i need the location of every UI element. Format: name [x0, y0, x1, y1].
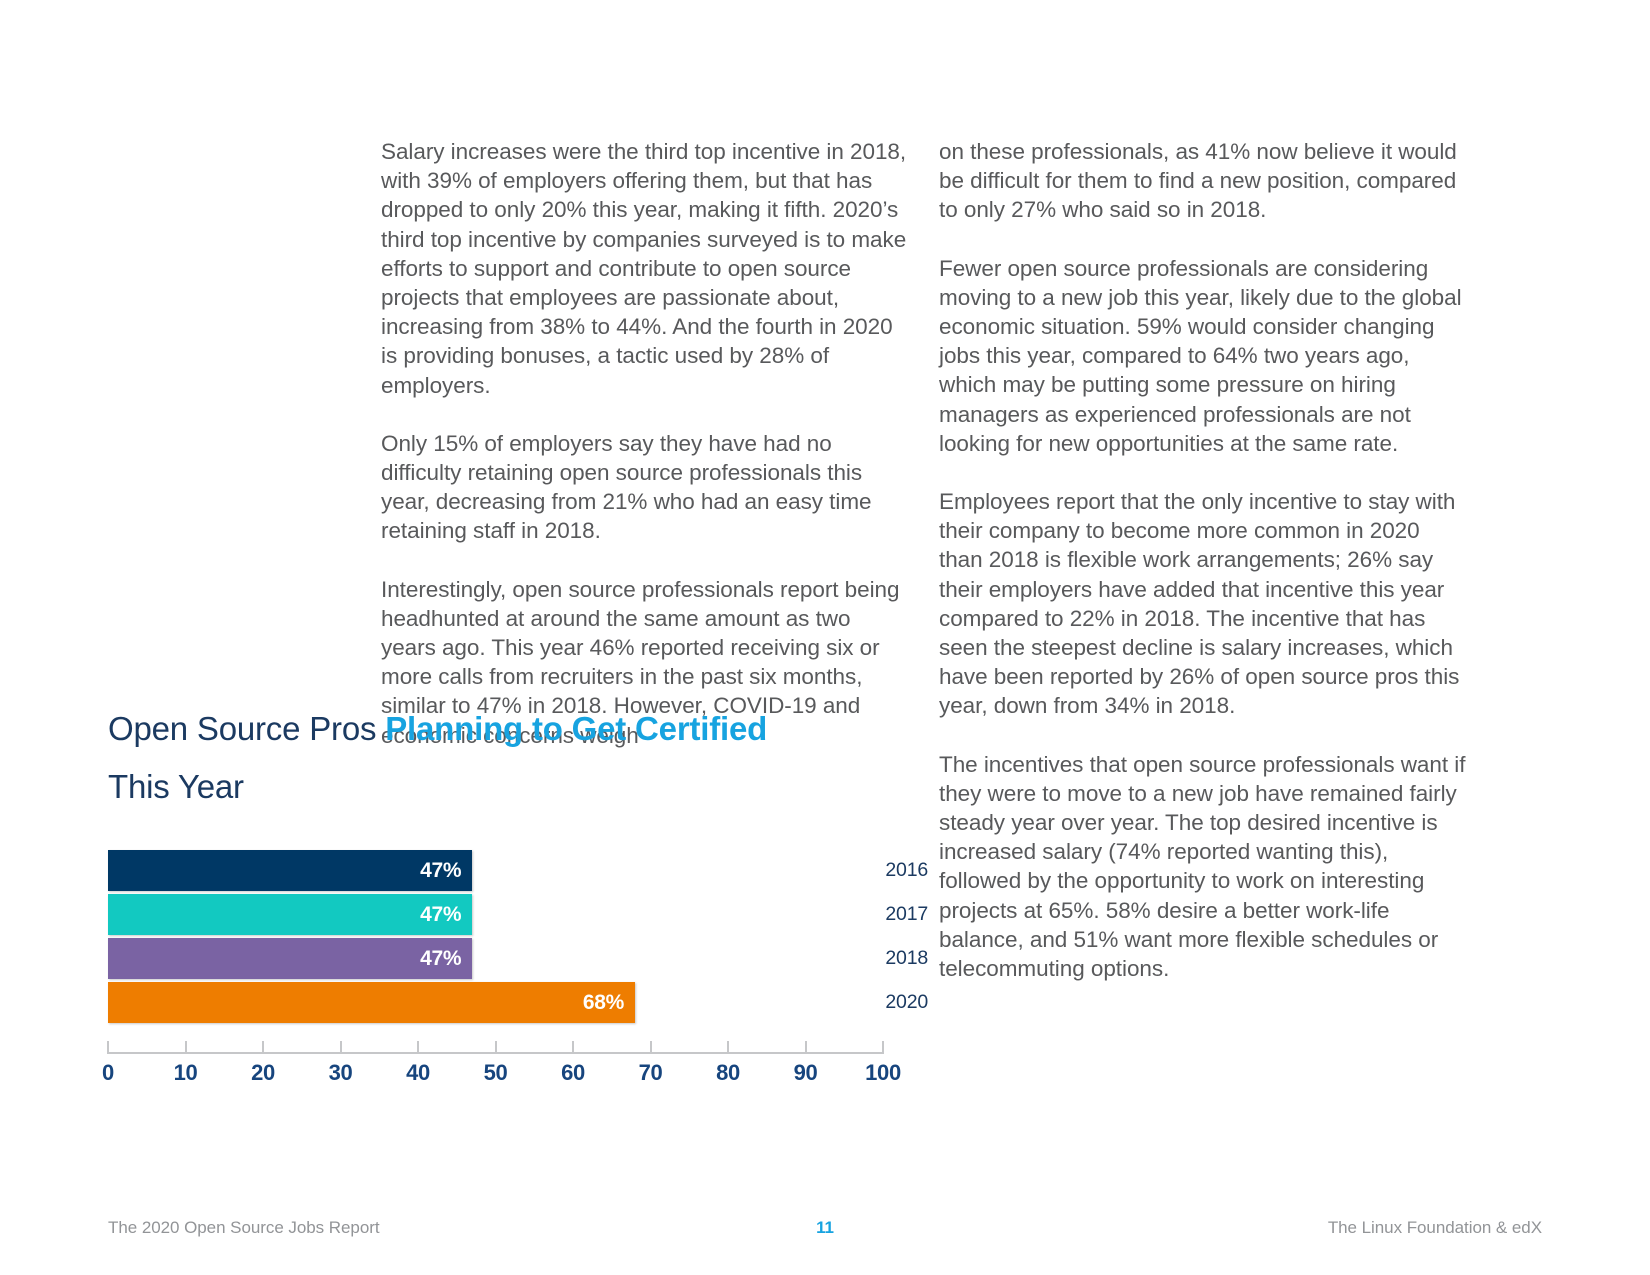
document-page: Salary increases were the third top ince…	[0, 0, 1650, 1275]
chart-plot-area: 47%201647%201747%201868%2020 01020304050…	[108, 850, 928, 1094]
axis-tick	[572, 1041, 574, 1054]
bar-row: 47%2018	[108, 938, 928, 979]
chart-title-line2: This Year	[108, 758, 928, 816]
x-axis	[108, 1039, 883, 1054]
bar-row: 47%2016	[108, 850, 928, 891]
axis-tick-label: 10	[174, 1060, 198, 1086]
axis-tick	[805, 1041, 807, 1054]
chart-title-line1: Open Source Pros Planning to Get Certifi…	[108, 700, 928, 758]
axis-tick	[727, 1041, 729, 1054]
bar-value-label: 47%	[420, 903, 472, 927]
axis-tick-label: 90	[794, 1060, 818, 1086]
chart-title-plain: Open Source Pros	[108, 710, 385, 747]
axis-tick	[495, 1041, 497, 1054]
bar-2018: 47%	[108, 938, 472, 979]
bar-2020: 68%	[108, 982, 635, 1023]
bar-chart: Open Source Pros Planning to Get Certifi…	[108, 700, 928, 1094]
bar-2017: 47%	[108, 894, 472, 935]
axis-tick-label: 60	[561, 1060, 585, 1086]
axis-tick-label: 70	[639, 1060, 663, 1086]
footer-report-name: The 2020 Open Source Jobs Report	[108, 1218, 380, 1238]
paragraph: Employees report that the only incentive…	[939, 487, 1467, 721]
bar-row: 47%2017	[108, 894, 928, 935]
page-footer: The 2020 Open Source Jobs Report 11 The …	[108, 1218, 1542, 1248]
axis-tick-label-group: 0102030405060708090100	[108, 1060, 883, 1094]
bar-category-label: 2018	[858, 947, 928, 970]
axis-tick	[262, 1041, 264, 1054]
axis-tick	[417, 1041, 419, 1054]
footer-publisher: The Linux Foundation & edX	[1328, 1218, 1542, 1238]
paragraph: The incentives that open source professi…	[939, 750, 1467, 984]
paragraph: Salary increases were the third top ince…	[381, 137, 909, 400]
bar-value-label: 47%	[420, 859, 472, 883]
axis-tick-label: 30	[329, 1060, 353, 1086]
chart-title-highlight: Planning to Get Certified	[385, 710, 767, 747]
bar-2016: 47%	[108, 850, 472, 891]
axis-tick-label: 50	[484, 1060, 508, 1086]
bar-category-label: 2020	[858, 991, 928, 1014]
footer-page-number: 11	[816, 1218, 834, 1238]
axis-tick	[185, 1041, 187, 1054]
bar-category-label: 2016	[858, 859, 928, 882]
axis-tick	[340, 1041, 342, 1054]
axis-tick	[650, 1041, 652, 1054]
axis-tick	[107, 1041, 109, 1054]
left-text-column: Salary increases were the third top ince…	[381, 137, 909, 779]
axis-tick-label: 100	[865, 1060, 901, 1086]
bar-row: 68%2020	[108, 982, 928, 1023]
axis-tick-label: 80	[716, 1060, 740, 1086]
axis-tick	[882, 1041, 884, 1054]
paragraph: Only 15% of employers say they have had …	[381, 429, 909, 546]
bar-value-label: 68%	[583, 991, 635, 1015]
axis-tick-label: 20	[251, 1060, 275, 1086]
paragraph: on these professionals, as 41% now belie…	[939, 137, 1467, 225]
paragraph: Fewer open source professionals are cons…	[939, 254, 1467, 458]
bar-category-label: 2017	[858, 903, 928, 926]
bar-group: 47%201647%201747%201868%2020	[108, 850, 928, 1023]
right-text-column: on these professionals, as 41% now belie…	[939, 137, 1467, 1012]
bar-value-label: 47%	[420, 947, 472, 971]
axis-tick-label: 40	[406, 1060, 430, 1086]
axis-tick-label: 0	[102, 1060, 114, 1086]
